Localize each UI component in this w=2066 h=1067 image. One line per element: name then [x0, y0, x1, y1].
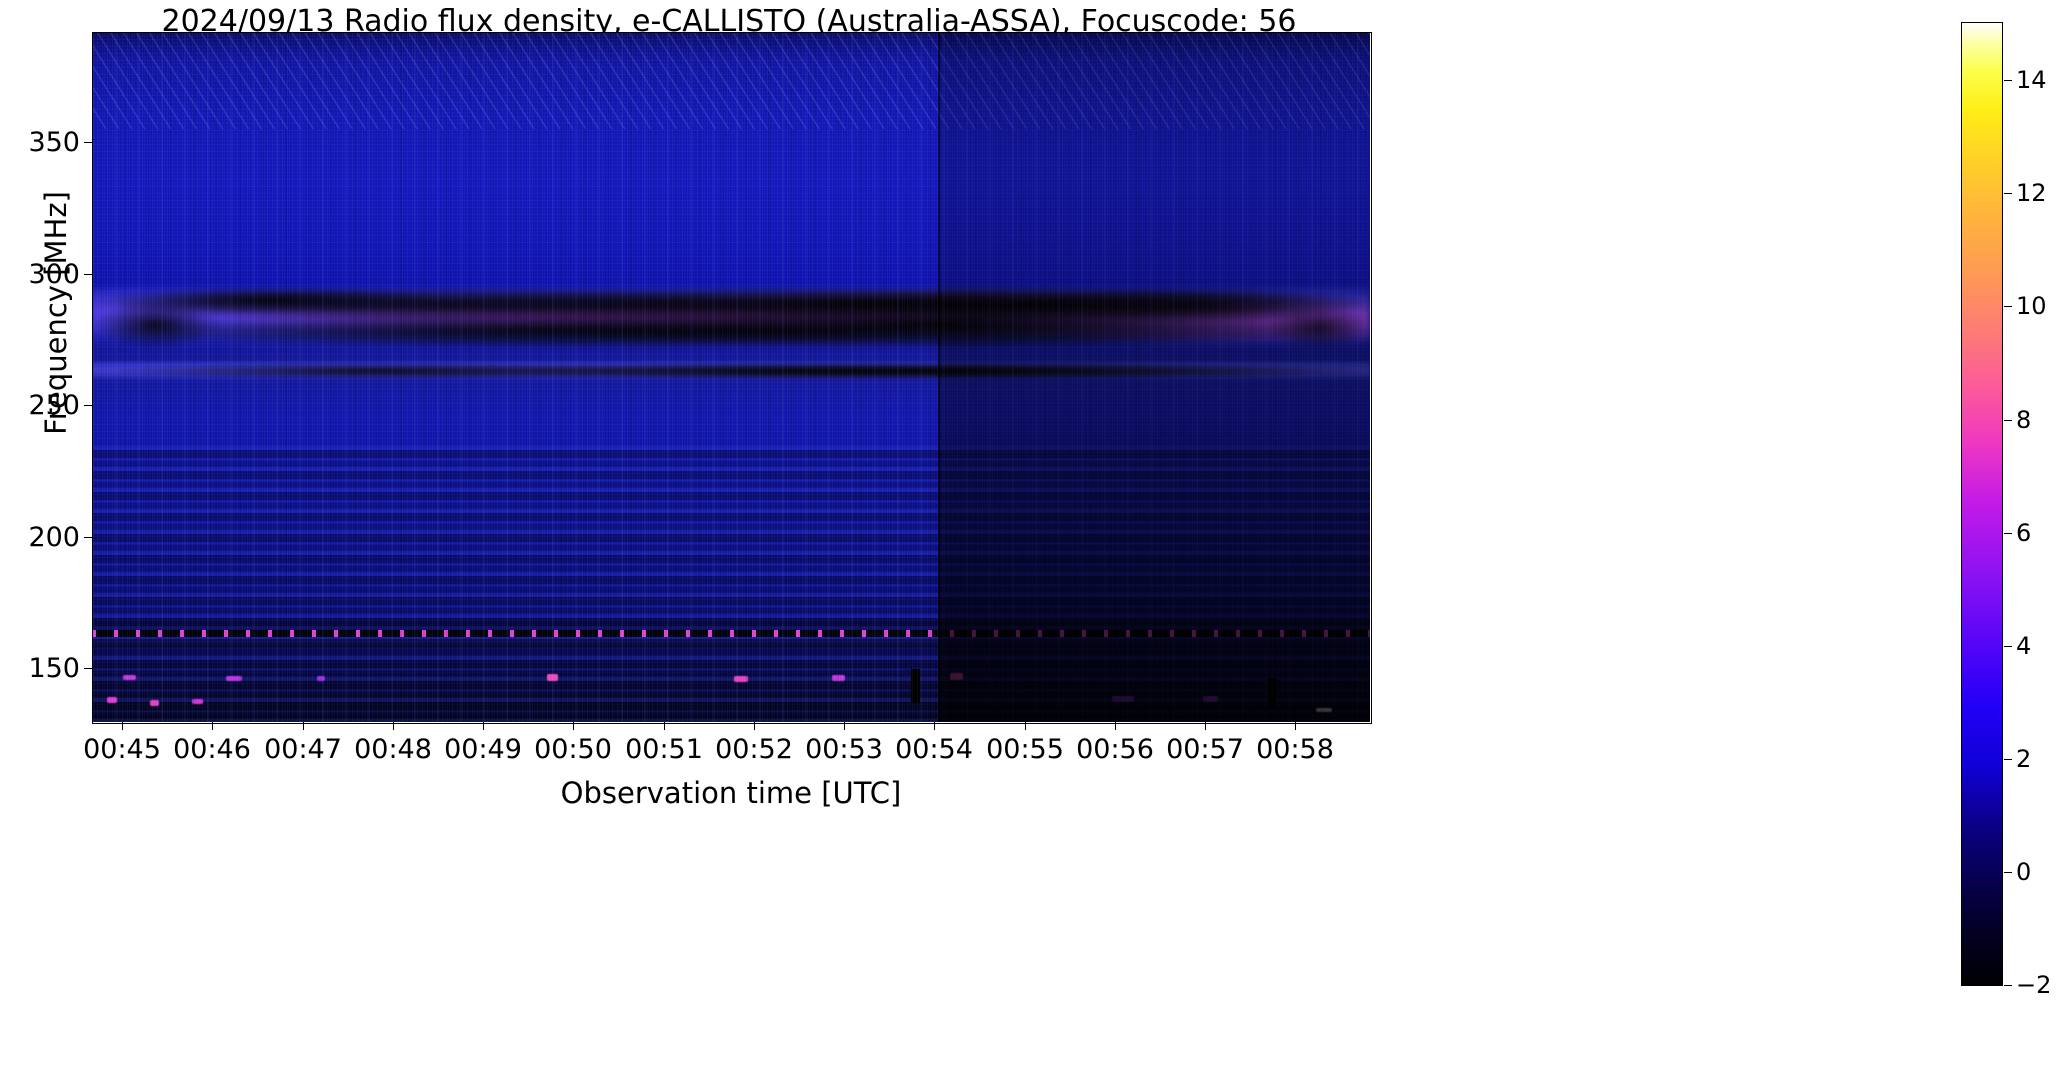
- colorbar-tick-label: 6: [2016, 521, 2031, 545]
- y-axis-label: Frequency [MHz]: [39, 153, 73, 473]
- x-tick-label: 00:56: [1076, 736, 1154, 763]
- y-tick: [84, 537, 92, 538]
- colorbar-tick-label: 8: [2016, 408, 2031, 432]
- y-tick: [84, 142, 92, 143]
- x-tick: [393, 722, 394, 730]
- colorbar-tick-label: 0: [2016, 860, 2031, 884]
- colorbar-tick-label: −2: [2016, 973, 2051, 997]
- x-tick-label: 00:55: [986, 736, 1064, 763]
- colorbar-tick: [2004, 533, 2012, 534]
- x-tick-label: 00:57: [1166, 736, 1244, 763]
- colorbar-tick: [2004, 646, 2012, 647]
- x-tick: [754, 722, 755, 730]
- x-tick-label: 00:50: [534, 736, 612, 763]
- x-tick-label: 00:51: [625, 736, 703, 763]
- x-tick: [844, 722, 845, 730]
- colorbar-tick: [2004, 306, 2012, 307]
- colorbar-tick: [2004, 80, 2012, 81]
- colorbar-tick: [2004, 759, 2012, 760]
- spectrogram-image[interactable]: [92, 32, 1370, 722]
- y-tick-label: 350: [0, 129, 80, 156]
- y-tick: [84, 274, 92, 275]
- x-tick: [1295, 722, 1296, 730]
- x-tick-label: 00:52: [715, 736, 793, 763]
- spectrogram-figure: 2024/09/13 Radio flux density, e-CALLIST…: [0, 0, 2066, 1067]
- colorbar-tick: [2004, 420, 2012, 421]
- x-tick: [303, 722, 304, 730]
- x-tick: [573, 722, 574, 730]
- x-tick-label: 00:54: [895, 736, 973, 763]
- y-tick: [84, 668, 92, 669]
- x-tick: [483, 722, 484, 730]
- colorbar-tick: [2004, 872, 2012, 873]
- x-tick: [1025, 722, 1026, 730]
- colorbar-tick: [2004, 985, 2012, 986]
- y-tick: [84, 405, 92, 406]
- colorbar-tick-label: 14: [2016, 68, 2047, 92]
- x-axis-label: Observation time [UTC]: [92, 776, 1370, 810]
- x-tick-label: 00:48: [354, 736, 432, 763]
- x-tick: [212, 722, 213, 730]
- y-tick-label: 150: [0, 655, 80, 682]
- colorbar-tick-label: 12: [2016, 181, 2047, 205]
- x-tick: [1205, 722, 1206, 730]
- x-tick: [934, 722, 935, 730]
- x-tick: [664, 722, 665, 730]
- x-tick-label: 00:49: [444, 736, 522, 763]
- colorbar-tick-label: 2: [2016, 747, 2031, 771]
- colorbar-tick: [2004, 193, 2012, 194]
- colorbar[interactable]: [1961, 22, 2003, 986]
- x-tick-label: 00:58: [1256, 736, 1334, 763]
- x-tick: [1115, 722, 1116, 730]
- x-tick-label: 00:47: [264, 736, 342, 763]
- colorbar-tick-label: 4: [2016, 634, 2031, 658]
- x-tick-label: 00:46: [173, 736, 251, 763]
- colorbar-tick-label: 10: [2016, 294, 2047, 318]
- post-gain-step-region: [938, 32, 1370, 722]
- x-tick-label: 00:53: [805, 736, 883, 763]
- y-tick-label: 200: [0, 524, 80, 551]
- gain-step-boundary: [938, 32, 940, 722]
- x-tick-label: 00:45: [83, 736, 161, 763]
- x-tick: [122, 722, 123, 730]
